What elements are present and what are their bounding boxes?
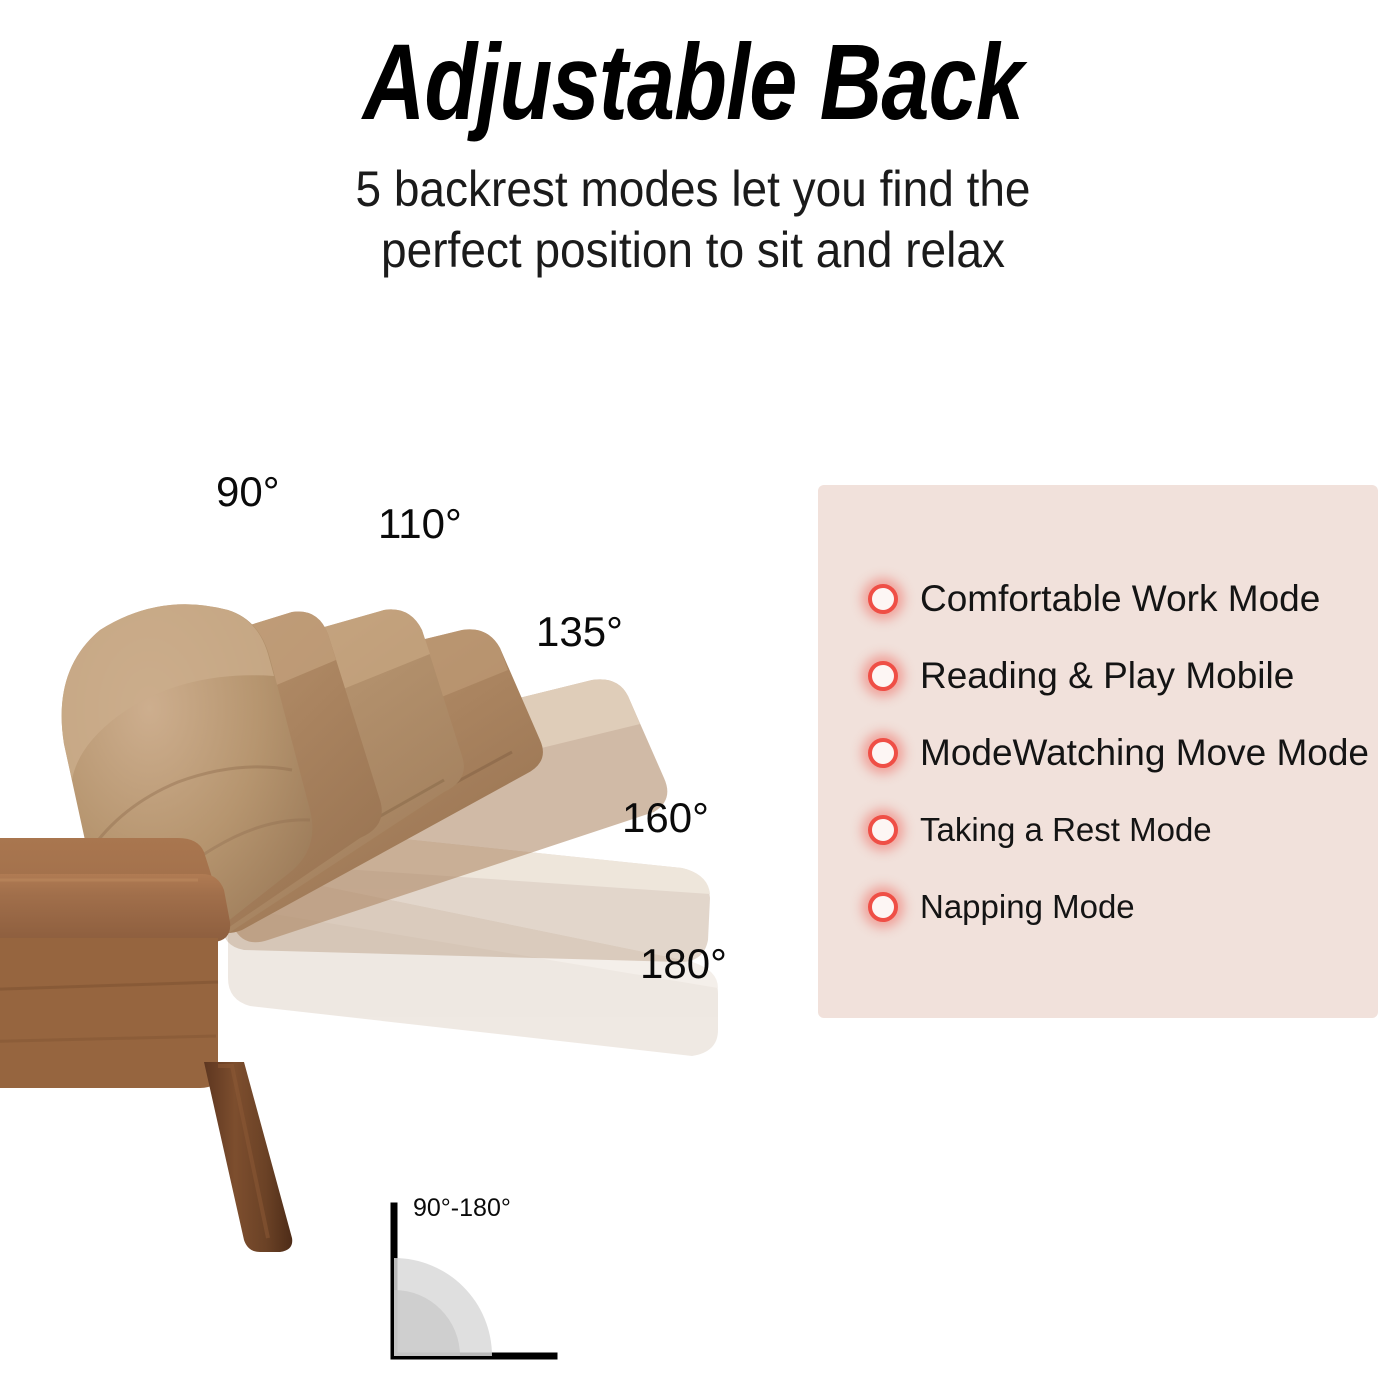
feature-label: Reading & Play Mobile bbox=[920, 657, 1294, 694]
angle-range-diagram: 90°-180° bbox=[386, 1198, 561, 1373]
chair-wood-leg bbox=[204, 1062, 292, 1252]
feature-label: Napping Mode bbox=[920, 890, 1135, 923]
angle-label-90: 90° bbox=[216, 468, 280, 516]
list-item[interactable]: Taking a Rest Mode bbox=[868, 792, 1368, 867]
ring-bullet-icon bbox=[868, 661, 898, 691]
ring-bullet-icon bbox=[868, 584, 898, 614]
angle-label-135: 135° bbox=[536, 608, 623, 656]
ring-bullet-icon bbox=[868, 738, 898, 768]
angle-label-180: 180° bbox=[640, 940, 727, 988]
page-subtitle: 5 backrest modes let you find the perfec… bbox=[55, 143, 1330, 281]
feature-list: Comfortable Work Mode Reading & Play Mob… bbox=[868, 561, 1368, 946]
header: Adjustable Back 5 backrest modes let you… bbox=[0, 0, 1386, 281]
list-item[interactable]: ModeWatching Move Mode bbox=[868, 715, 1368, 790]
angle-range-icon bbox=[386, 1198, 561, 1373]
feature-label: Comfortable Work Mode bbox=[920, 580, 1320, 617]
ring-bullet-icon bbox=[868, 815, 898, 845]
page-title: Adjustable Back bbox=[139, 0, 1248, 143]
ring-bullet-icon bbox=[868, 892, 898, 922]
chair-recline-fan-graphic bbox=[0, 470, 822, 1270]
chair-seat-frame bbox=[0, 838, 230, 1088]
list-item[interactable]: Comfortable Work Mode bbox=[868, 561, 1368, 636]
subtitle-line-1: 5 backrest modes let you find the bbox=[55, 159, 1330, 220]
angle-label-110: 110° bbox=[378, 500, 462, 548]
feature-label: ModeWatching Move Mode bbox=[920, 734, 1369, 771]
feature-panel: Comfortable Work Mode Reading & Play Mob… bbox=[818, 485, 1378, 1018]
list-item[interactable]: Napping Mode bbox=[868, 869, 1368, 944]
angle-label-160: 160° bbox=[622, 794, 709, 842]
list-item[interactable]: Reading & Play Mobile bbox=[868, 638, 1368, 713]
angle-range-label: 90°-180° bbox=[413, 1194, 511, 1223]
feature-label: Taking a Rest Mode bbox=[920, 813, 1212, 846]
subtitle-line-2: perfect position to sit and relax bbox=[55, 220, 1330, 281]
